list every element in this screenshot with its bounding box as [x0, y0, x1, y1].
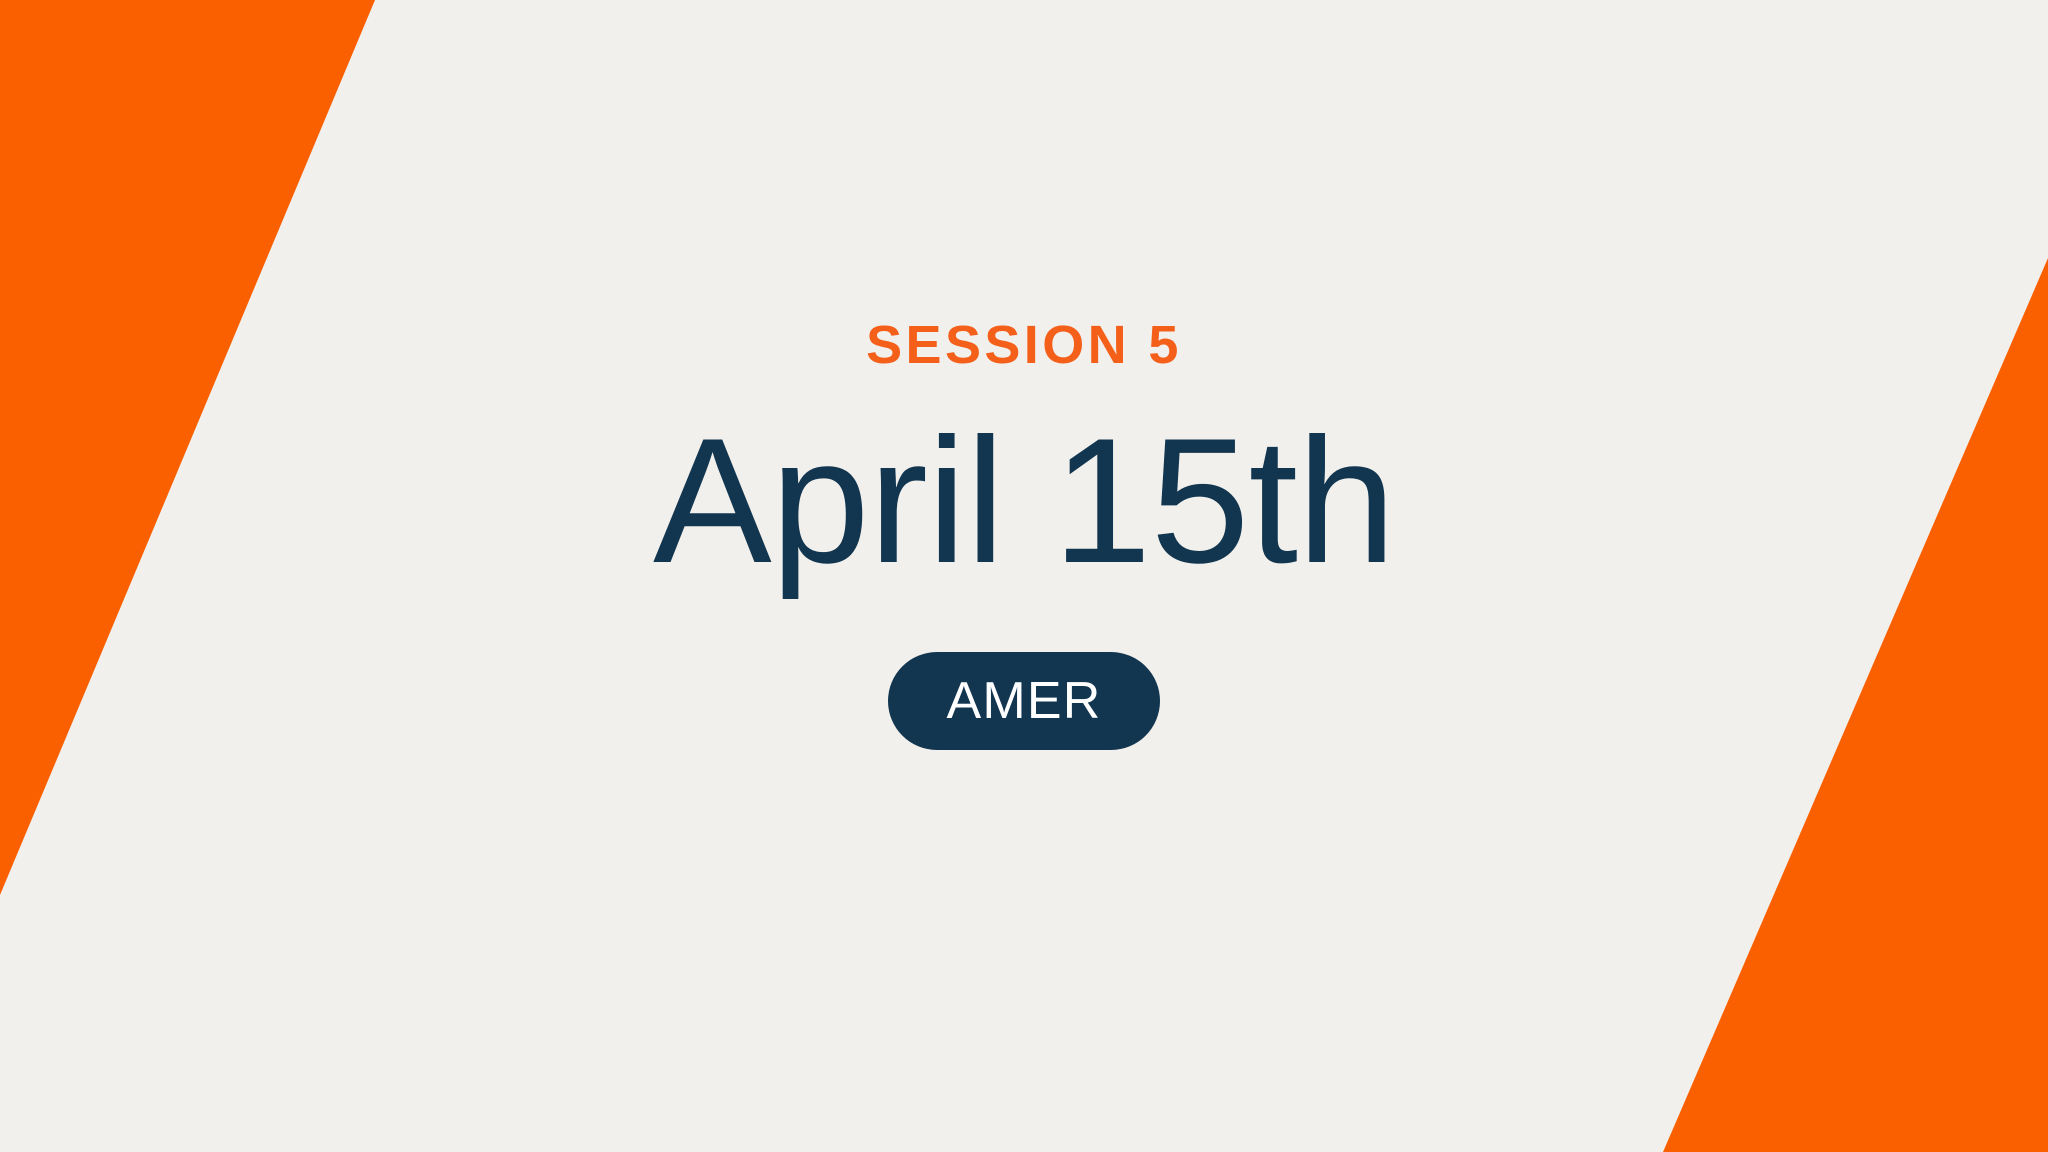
slide-content: SESSION 5 April 15th AMER: [0, 0, 2048, 1152]
session-date-heading: April 15th: [653, 412, 1395, 590]
session-eyebrow-label: SESSION 5: [866, 318, 1182, 372]
region-badge-row: AMER: [888, 652, 1160, 750]
region-badge[interactable]: AMER: [888, 652, 1160, 750]
session-slide: SESSION 5 April 15th AMER: [0, 0, 2048, 1152]
region-badge-label: AMER: [946, 675, 1101, 727]
